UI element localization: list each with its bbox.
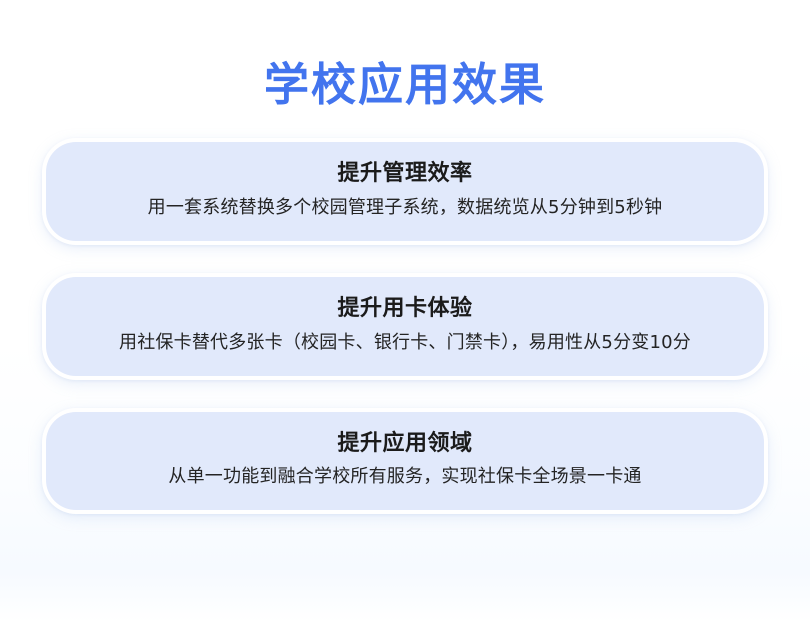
- slide-root: 学校应用效果 提升管理效率 用一套系统替换多个校园管理子系统，数据统览从5分钟到…: [0, 0, 810, 622]
- benefit-card-title: 提升管理效率: [70, 159, 740, 189]
- benefit-card-title: 提升应用领域: [70, 429, 740, 459]
- benefit-card-3: 提升应用领域 从单一功能到融合学校所有服务，实现社保卡全场景一卡通: [42, 408, 768, 515]
- benefit-card-description: 从单一功能到融合学校所有服务，实现社保卡全场景一卡通: [70, 464, 740, 490]
- page-title: 学校应用效果: [0, 0, 810, 111]
- benefit-card-description: 用一套系统替换多个校园管理子系统，数据统览从5分钟到5秒钟: [70, 195, 740, 221]
- benefit-card-1: 提升管理效率 用一套系统替换多个校园管理子系统，数据统览从5分钟到5秒钟: [42, 138, 768, 245]
- benefit-card-list: 提升管理效率 用一套系统替换多个校园管理子系统，数据统览从5分钟到5秒钟 提升用…: [0, 138, 810, 514]
- benefit-card-body: 提升用卡体验 用社保卡替代多张卡（校园卡、银行卡、门禁卡），易用性从5分变10分: [46, 277, 764, 376]
- benefit-card-2: 提升用卡体验 用社保卡替代多张卡（校园卡、银行卡、门禁卡），易用性从5分变10分: [42, 273, 768, 380]
- benefit-card-body: 提升应用领域 从单一功能到融合学校所有服务，实现社保卡全场景一卡通: [46, 412, 764, 511]
- benefit-card-description: 用社保卡替代多张卡（校园卡、银行卡、门禁卡），易用性从5分变10分: [70, 330, 740, 356]
- benefit-card-body: 提升管理效率 用一套系统替换多个校园管理子系统，数据统览从5分钟到5秒钟: [46, 142, 764, 241]
- benefit-card-title: 提升用卡体验: [70, 294, 740, 324]
